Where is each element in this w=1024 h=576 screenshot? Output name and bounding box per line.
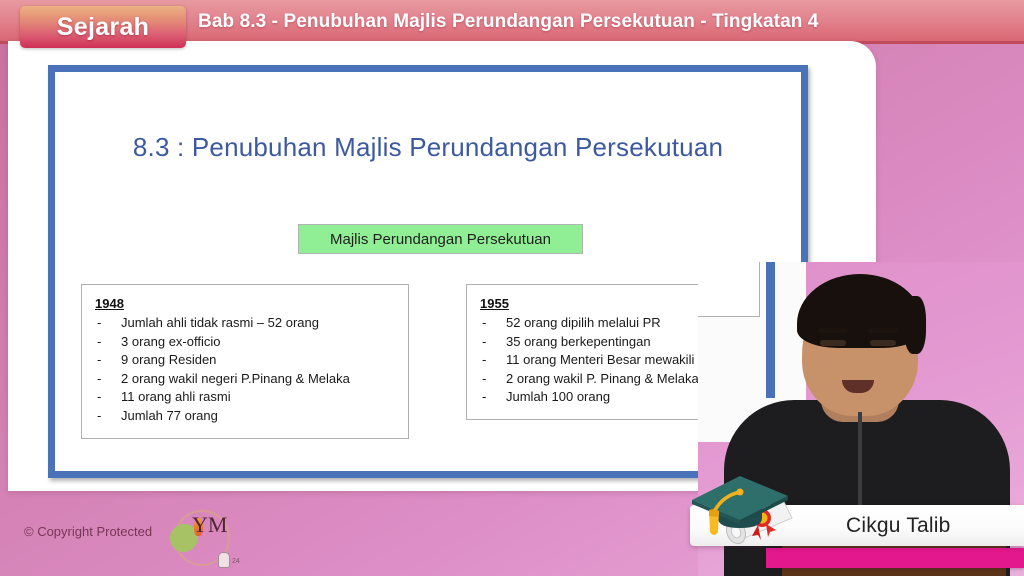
year-list-1948: Jumlah ahli tidak rasmi – 52 orang 3 ora… [95, 314, 395, 426]
slide-stage: Sejarah Bab 8.3 - Penubuhan Majlis Perun… [0, 0, 1024, 576]
presenter-eye-left [820, 340, 846, 346]
header-bar: Sejarah Bab 8.3 - Penubuhan Majlis Perun… [0, 0, 1024, 44]
mouse-cursor-label: 24 [232, 558, 240, 565]
presenter-eyebrow-left [818, 328, 848, 333]
slide-frame: 8.3 : Penubuhan Majlis Perundangan Perse… [48, 65, 808, 478]
presenter-slide-box [698, 262, 760, 317]
list-item: 3 orang ex-officio [95, 333, 395, 352]
magenta-accent-bar [766, 548, 1024, 568]
list-item: 9 orang Residen [95, 351, 395, 370]
copyright-text: © Copyright Protected [24, 524, 152, 539]
slide-title: 8.3 : Penubuhan Majlis Perundangan Perse… [55, 132, 801, 163]
list-item: 2 orang wakil negeri P.Pinang & Melaka [95, 370, 395, 389]
list-item: Jumlah 77 orang [95, 407, 395, 426]
presenter-slide-edge [766, 262, 775, 398]
list-item: Jumlah ahli tidak rasmi – 52 orang [95, 314, 395, 333]
watermark-letters: YM [192, 516, 227, 533]
watermark-logo: ︿ YM 24 [160, 500, 242, 576]
central-concept-label: Majlis Perundangan Persekutuan [330, 231, 551, 248]
subject-badge: Sejarah [20, 6, 186, 48]
central-concept-chip: Majlis Perundangan Persekutuan [298, 224, 583, 254]
presenter-name-label: Cikgu Talib [846, 514, 951, 538]
graduation-cap-icon [688, 466, 804, 566]
mouse-cursor-icon [218, 552, 230, 568]
year-label-1948: 1948 [95, 296, 395, 311]
presenter-eyebrow-right [868, 328, 898, 333]
subject-badge-label: Sejarah [57, 13, 149, 42]
list-item: 11 orang ahli rasmi [95, 388, 395, 407]
header-title: Bab 8.3 - Penubuhan Majlis Perundangan P… [198, 11, 819, 33]
presenter-eye-right [870, 340, 896, 346]
year-box-1948: 1948 Jumlah ahli tidak rasmi – 52 orang … [81, 284, 409, 439]
